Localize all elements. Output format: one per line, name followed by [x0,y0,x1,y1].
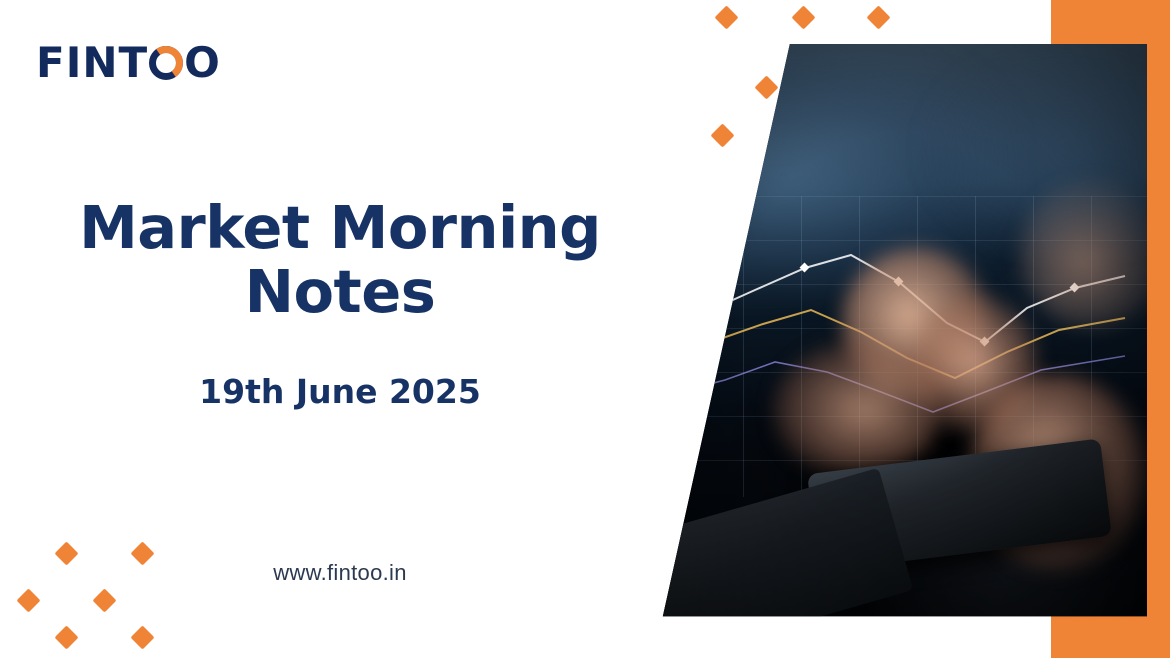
publication-date: 19th June 2025 [40,372,640,411]
decorative-diamond-bottom-left-4 [54,625,78,649]
website-url[interactable]: www.fintoo.in [40,560,640,586]
decorative-diamond-top-right-0 [714,5,738,29]
logo-wordmark-prefix: FINT [36,42,148,84]
decorative-diamond-bottom-left-3 [92,588,116,612]
poster-canvas: FINT O Market Morning Notes 19th June 20… [0,0,1170,658]
decorative-diamond-top-right-4 [710,123,734,147]
page-title-line-1: Market Morning [79,193,601,262]
decorative-diamond-top-right-3 [754,75,778,99]
headline-block: Market Morning Notes 19th June 2025 [40,196,640,411]
decorative-diamond-top-right-1 [791,5,815,29]
logo-o-orange-arc [146,43,185,82]
logo-accent-o-icon [149,46,183,80]
page-title-line-2: Notes [245,257,436,326]
decorative-diamond-bottom-left-2 [16,588,40,612]
decorative-diamond-bottom-left-5 [130,625,154,649]
hero-photo [655,40,1147,618]
photo-vignette [655,40,1147,618]
hero-photo-background [655,40,1147,618]
decorative-diamond-top-right-2 [866,5,890,29]
page-title: Market Morning Notes [40,196,640,325]
fintoo-logo[interactable]: FINT O [36,42,221,84]
logo-wordmark-suffix: O [184,42,221,84]
